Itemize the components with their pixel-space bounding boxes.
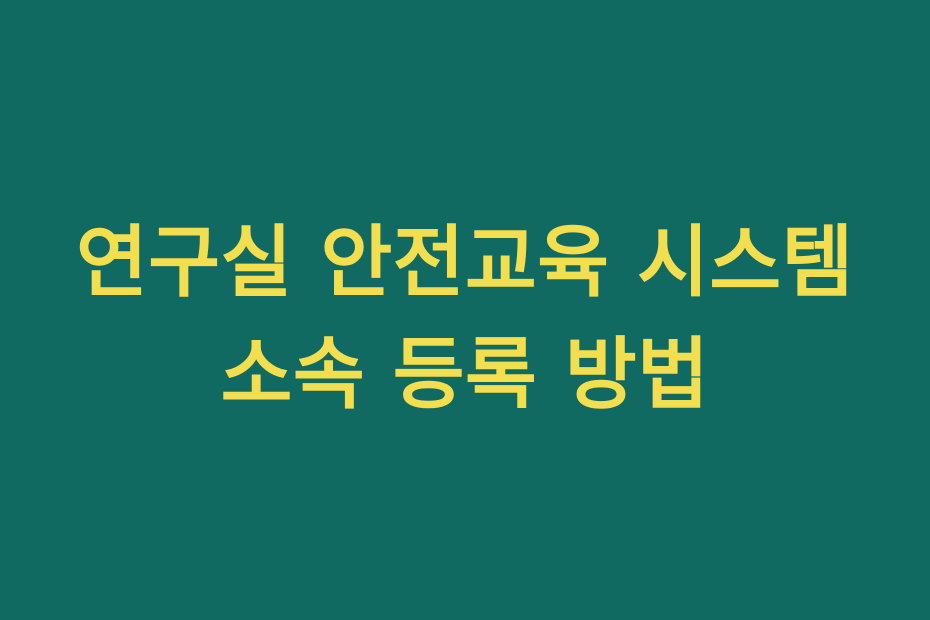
- title-line-primary: 연구실 안전교육 시스템: [0, 207, 930, 319]
- title-line-secondary: 소속 등록 방법: [0, 319, 930, 431]
- title-text-block: 연구실 안전교육 시스템 소속 등록 방법: [0, 207, 930, 431]
- title-card: 연구실 안전교육 시스템 소속 등록 방법: [0, 0, 930, 620]
